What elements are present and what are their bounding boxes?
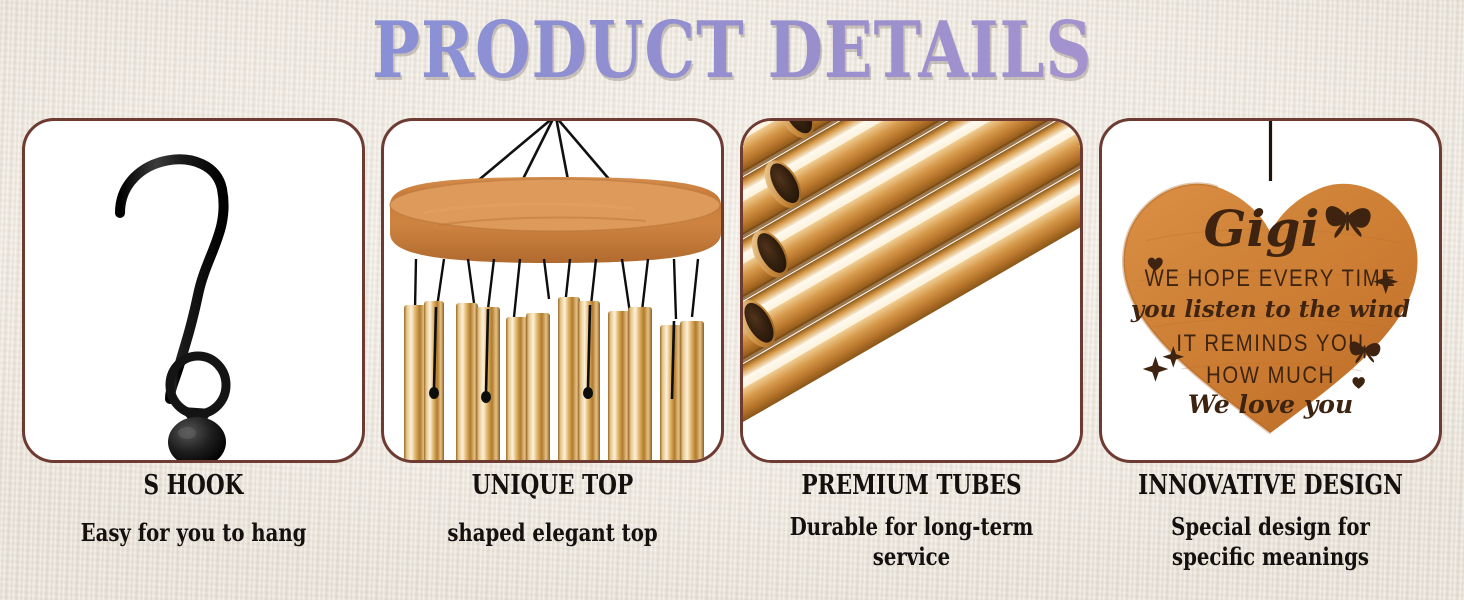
gold-tubes-icon (743, 121, 1080, 460)
heart-line-4: HOW MUCH (1206, 361, 1335, 388)
caption-title: INNOVATIVE DESIGN (1133, 470, 1407, 502)
panel-row: Gigi WE HOPE EVERY TIME you listen to th… (22, 118, 1442, 463)
panel-premium-tubes[interactable] (740, 118, 1083, 463)
heart-line-1: WE HOPE EVERY TIME (1144, 265, 1396, 292)
panel-innovative-design[interactable]: Gigi WE HOPE EVERY TIME you listen to th… (1099, 118, 1442, 463)
caption-unique-top: UNIQUE TOP shaped elegant top (381, 470, 724, 595)
page-title: PRODUCT DETAILS (372, 6, 1092, 96)
sparkle-icon (1142, 356, 1168, 382)
wind-chime-top-image (384, 121, 721, 460)
heart-icon (1352, 377, 1364, 389)
s-hook-icon (94, 127, 294, 463)
heart-name: Gigi (1203, 199, 1319, 258)
page-title-container: PRODUCT DETAILS (0, 6, 1464, 101)
heart-line-5: We love you (1187, 390, 1352, 419)
caption-row: S HOOK Easy for you to hang UNIQUE TOP s… (22, 470, 1442, 595)
caption-subtitle: Durable for long-term service (771, 512, 1052, 572)
panel-s-hook[interactable] (22, 118, 365, 463)
heart-line-3: IT REMINDS YOU (1176, 329, 1364, 356)
caption-premium-tubes: PREMIUM TUBES Durable for long-term serv… (740, 470, 1083, 595)
caption-subtitle: shaped elegant top (412, 518, 693, 548)
caption-title: PREMIUM TUBES (774, 470, 1048, 502)
s-hook-image (25, 121, 362, 460)
heart-pendant-image: Gigi WE HOPE EVERY TIME you listen to th… (1102, 121, 1439, 460)
heart-pendant-icon: Gigi WE HOPE EVERY TIME you listen to th… (1099, 121, 1442, 463)
caption-s-hook: S HOOK Easy for you to hang (22, 470, 365, 595)
caption-subtitle: Special design for specific meanings (1130, 512, 1411, 572)
caption-title: UNIQUE TOP (415, 470, 689, 502)
caption-title: S HOOK (56, 470, 330, 502)
heart-line-2: you listen to the wind (1129, 296, 1409, 323)
panel-unique-top[interactable] (381, 118, 724, 463)
caption-innovative-design: INNOVATIVE DESIGN Special design for spe… (1099, 470, 1442, 595)
wind-chime-top-icon (384, 121, 724, 463)
infographic-root: PRODUCT DETAILS (0, 0, 1464, 600)
caption-subtitle: Easy for you to hang (53, 518, 334, 548)
premium-tubes-image (743, 121, 1080, 460)
